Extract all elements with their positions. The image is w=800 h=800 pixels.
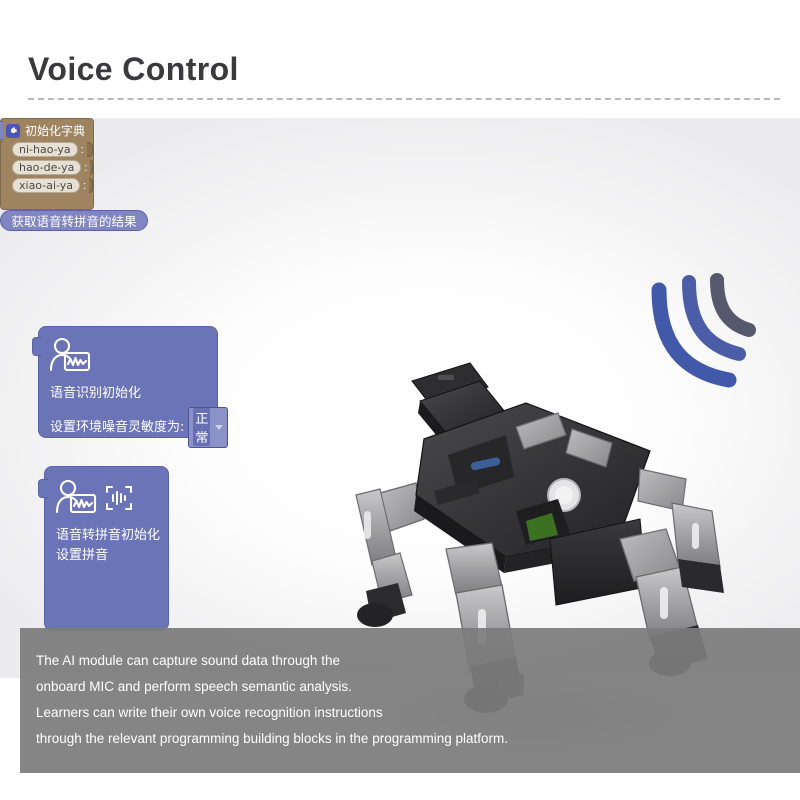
- dictionary-separator: :: [81, 144, 84, 156]
- get-pinyin-result-reporter[interactable]: 获取语音转拼音的结果: [0, 210, 148, 231]
- voice-to-pinyin-init-block[interactable]: 语音转拼音初始化 设置拼音: [44, 466, 169, 631]
- gear-icon: [6, 124, 20, 138]
- dictionary-value-socket[interactable]: [90, 160, 93, 175]
- reporter-label: 获取语音转拼音的结果: [0, 210, 148, 231]
- noise-sensitivity-dropdown[interactable]: 正常: [188, 407, 228, 448]
- dictionary-entries: ni-hao-ya : hao-de-ya : xiao-ai-ya :: [6, 142, 93, 193]
- sound-wave-icon: [645, 268, 795, 398]
- block-notch: [32, 337, 42, 356]
- block-notch: [0, 121, 3, 140]
- caption-panel: The AI module can capture sound data thr…: [20, 628, 800, 773]
- voice-recognition-init-block[interactable]: 语音识别初始化 设置环境噪音灵敏度为: 正常: [38, 326, 218, 438]
- person-waveform-icon: [49, 337, 91, 379]
- block-icon-row: [55, 479, 134, 521]
- dictionary-entry[interactable]: hao-de-ya :: [12, 160, 93, 175]
- dropdown-value: 正常: [193, 408, 210, 446]
- dictionary-separator: :: [84, 162, 87, 174]
- dictionary-value-socket[interactable]: [89, 178, 93, 193]
- hero-stage: 语音识别初始化 设置环境噪音灵敏度为: 正常: [0, 118, 800, 678]
- caption-text: The AI module can capture sound data thr…: [36, 648, 508, 752]
- block-line-2-label: 设置环境噪音灵敏度为:: [50, 419, 184, 436]
- chevron-down-icon: [215, 425, 223, 430]
- dictionary-title: 初始化字典: [25, 122, 85, 139]
- audio-bars-bracket-icon: [104, 484, 134, 516]
- init-dictionary-block[interactable]: 初始化字典 ni-hao-ya : hao-de-ya : xiao-ai-ya…: [0, 118, 94, 210]
- dictionary-title-row: 初始化字典: [6, 122, 93, 139]
- dictionary-entry[interactable]: ni-hao-ya :: [12, 142, 93, 157]
- title-divider: [28, 98, 780, 100]
- dictionary-key[interactable]: ni-hao-ya: [12, 142, 78, 157]
- block-icon-row: [49, 337, 91, 379]
- block-notch: [38, 479, 48, 498]
- block-line-1: 语音识别初始化: [50, 385, 141, 402]
- dictionary-key[interactable]: hao-de-ya: [12, 160, 81, 175]
- person-waveform-icon: [55, 479, 97, 521]
- page-title: Voice Control: [28, 52, 239, 87]
- block-line-1: 语音转拼音初始化: [56, 527, 160, 544]
- dictionary-value-socket[interactable]: [87, 142, 93, 157]
- dictionary-key[interactable]: xiao-ai-ya: [12, 178, 80, 193]
- block-line-2: 设置拼音: [56, 547, 108, 564]
- dictionary-separator: :: [83, 180, 86, 192]
- dictionary-entry[interactable]: xiao-ai-ya :: [12, 178, 93, 193]
